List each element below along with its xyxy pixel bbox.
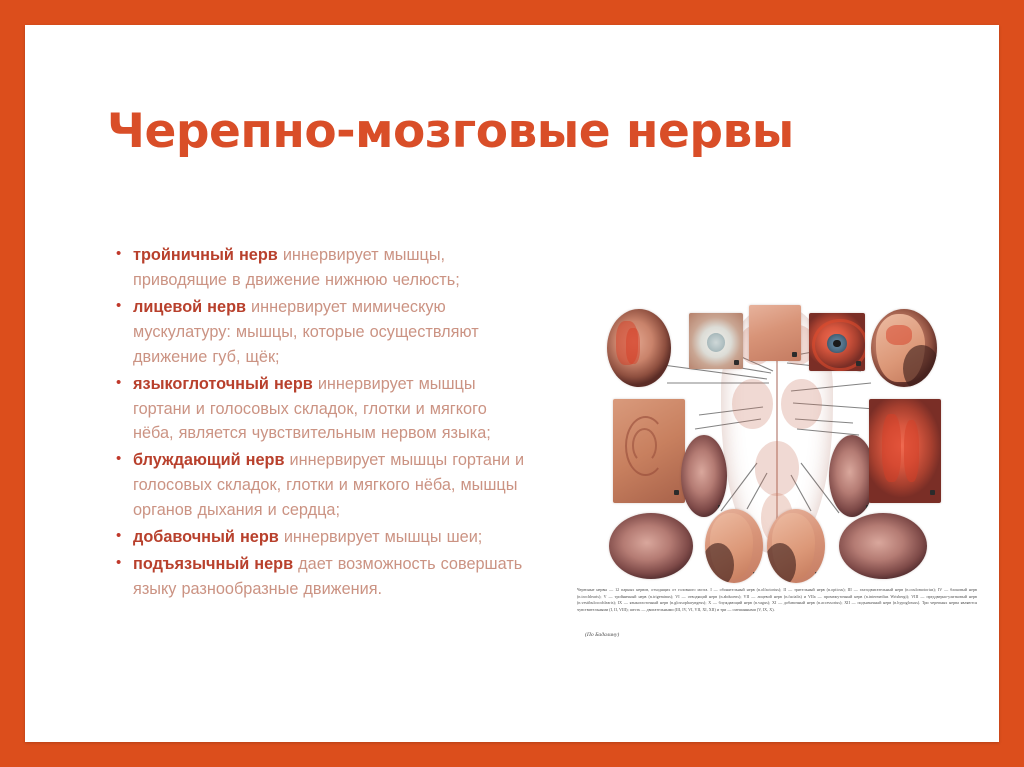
nerve-term: лицевой нерв [133,298,246,316]
plate-marker [915,569,920,574]
slide-canvas: Черепно-мозговые нервы тройничный нерв и… [25,25,999,742]
page-title: Черепно-мозговые нервы [107,107,747,156]
plate-marker [661,376,666,381]
list-item: подъязычный нерв дает возможность соверш… [111,552,531,602]
plate-marker [866,505,871,510]
plate-tongue-pharynx [749,305,801,361]
plate-marker [792,352,797,357]
brain-lobe [732,379,772,429]
plate-profile-right [767,509,825,583]
nerve-bullet-list: тройничный нерв иннервирует мышцы, приво… [111,243,531,604]
plate-ear-left [681,435,727,517]
plate-eye-lens [689,313,743,369]
figure-caption: Черепные нервы — 12 парных нервов, отход… [577,587,977,613]
plate-marker [718,505,723,510]
slide-frame: Черепно-мозговые нервы тройничный нерв и… [0,0,1024,767]
plate-marker [930,490,935,495]
list-item: блуждающий нерв иннервирует мышцы гортан… [111,448,531,523]
plate-marker [674,490,679,495]
figure-credit: (По Бадалину) [585,632,619,638]
plate-face-muscles [871,309,937,387]
nerve-term: блуждающий нерв [133,451,285,469]
list-item: языкоглоточный нерв иннервирует мышцы го… [111,372,531,447]
plate-marker [815,572,820,577]
plate-eye-iris [809,313,865,371]
plate-larynx-left [609,513,693,579]
plate-marker [856,361,861,366]
cranial-nerves-figure: Черепные нервы — 12 парных нервов, отход… [571,287,983,585]
plate-marker [681,569,686,574]
anatomy-illustration [571,287,983,585]
nerve-term: языкоглоточный нерв [133,375,313,393]
plate-cochlea-labyrinth [613,399,685,503]
plate-marker [753,572,758,577]
plate-profile-left [705,509,763,583]
brain-lobe [781,379,821,429]
plate-larynx-right [839,513,927,579]
plate-marker [734,360,739,365]
nerve-term: добавочный нерв [133,528,279,546]
plate-marker [927,376,932,381]
nerve-term: тройничный нерв [133,246,278,264]
list-item: тройничный нерв иннервирует мышцы, приво… [111,243,531,293]
list-item: лицевой нерв иннервирует мимическую муск… [111,295,531,370]
plate-trigeminal-mandible [607,309,671,387]
brain-lobe [755,441,800,496]
nerve-term: подъязычный нерв [133,555,293,573]
list-item: добавочный нерв иннервирует мышцы шеи; [111,525,531,550]
plate-neck-muscles [869,399,941,503]
nerve-description: иннервирует мышцы шеи; [279,528,483,546]
